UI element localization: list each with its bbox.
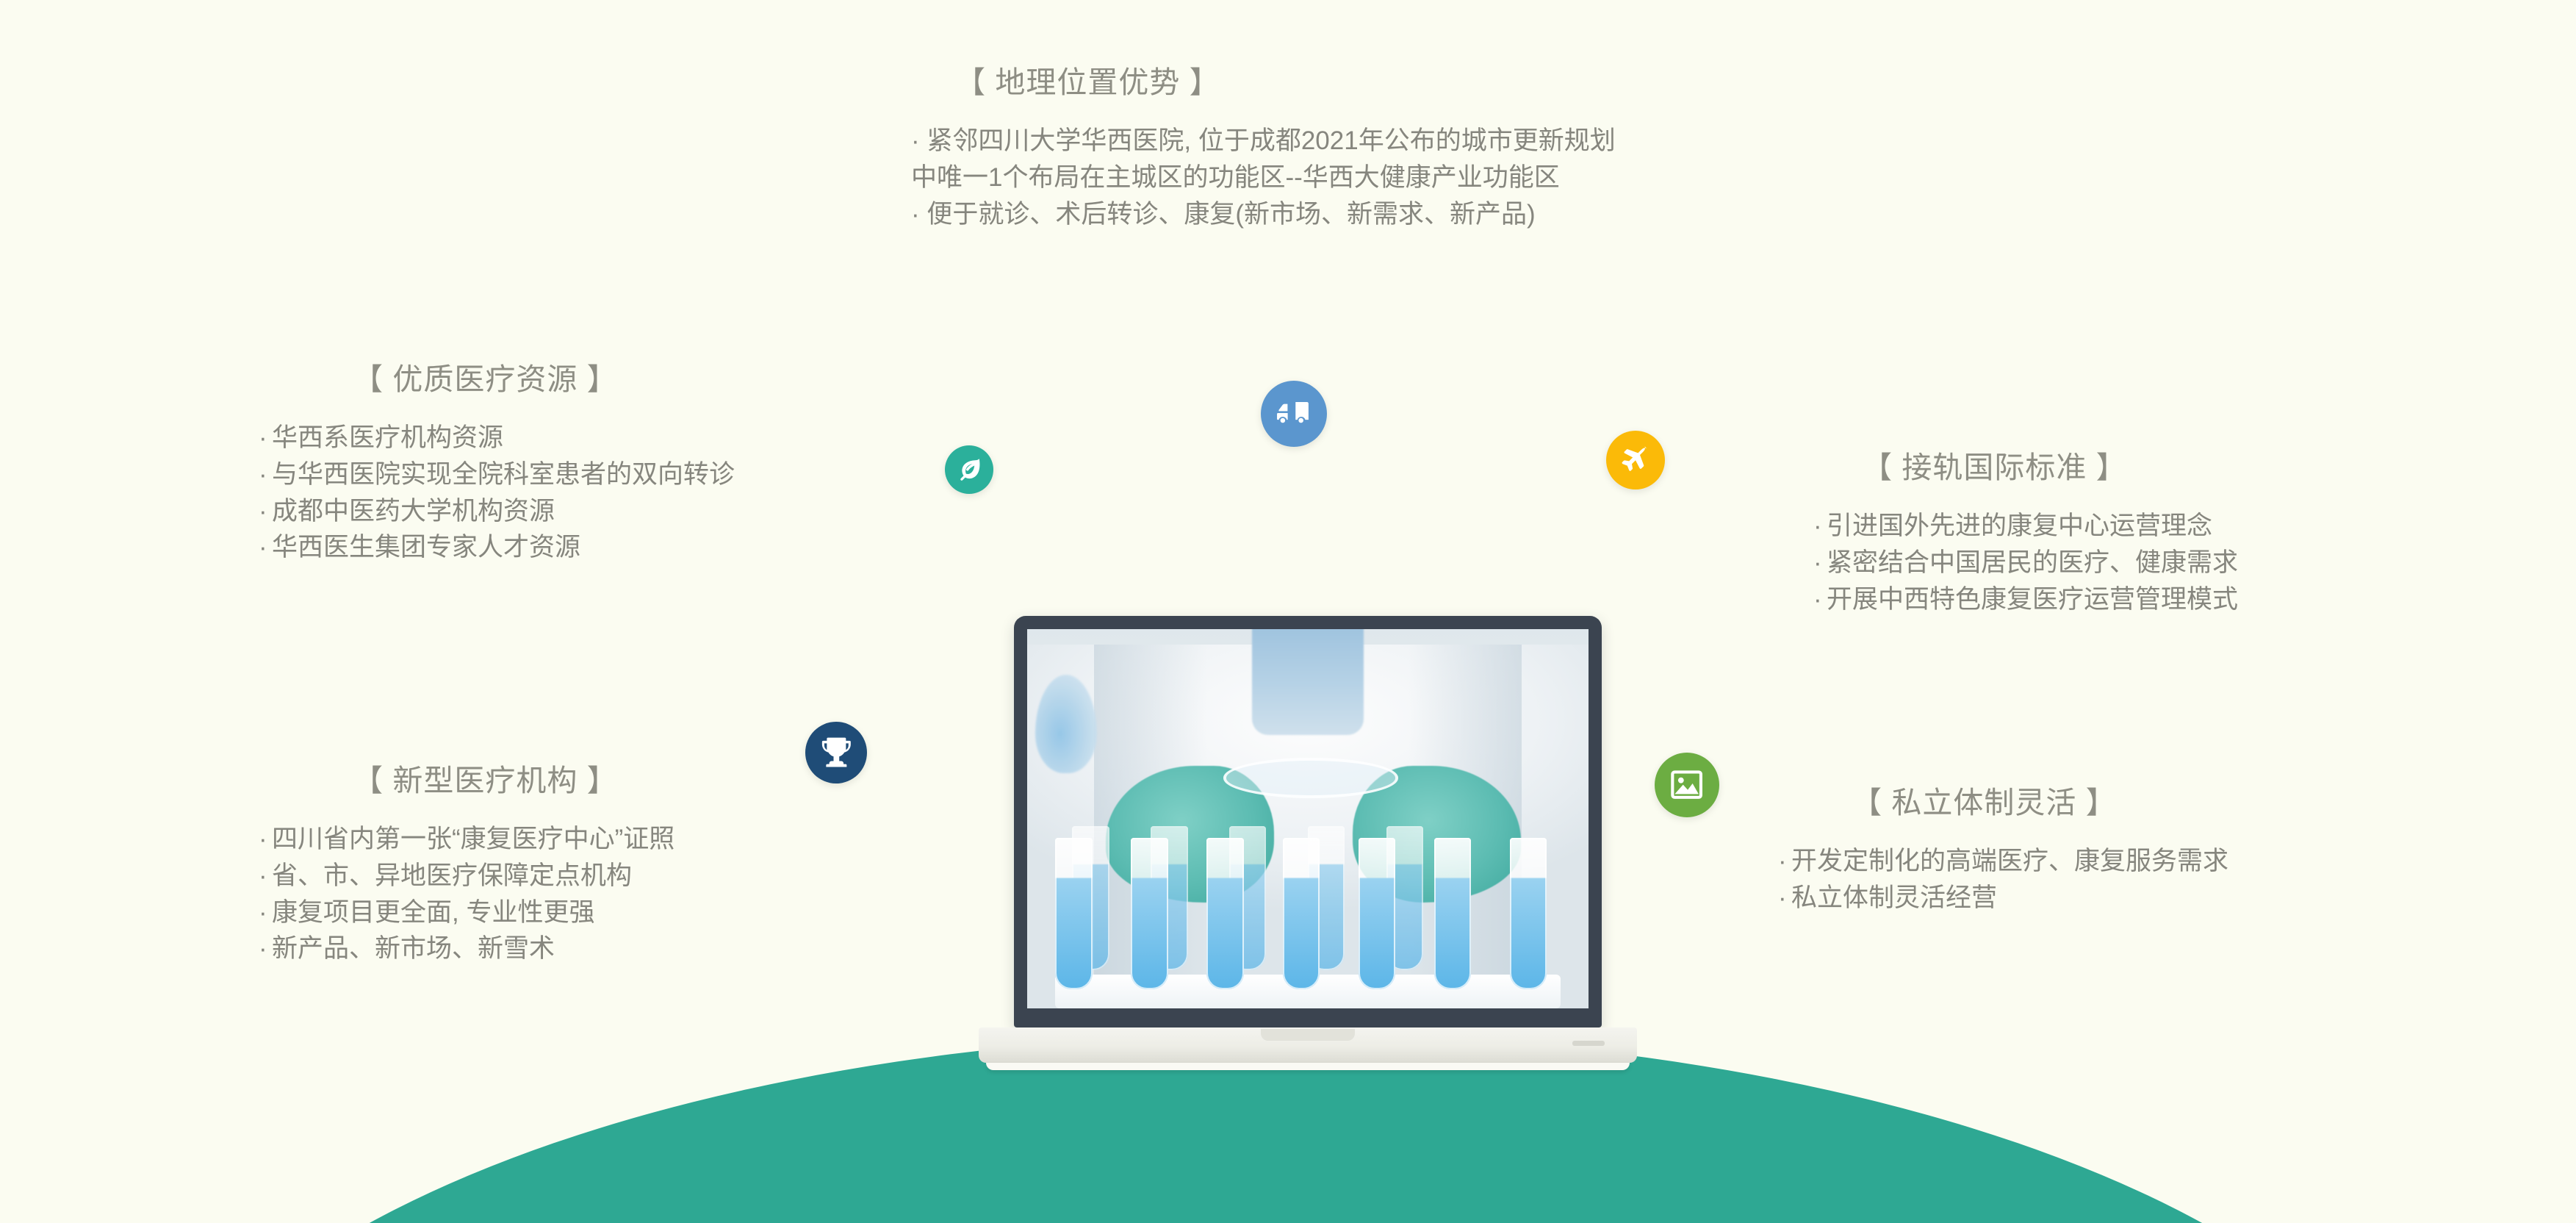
feature-block-geo: 【 地理位置优势 】 · 紧邻四川大学华西医院, 位于成都2021年公布的城市更… xyxy=(911,65,1616,232)
medical-title: 【 优质医疗资源 】 xyxy=(353,362,735,398)
test-tube xyxy=(1283,838,1320,989)
geo-line: · 紧邻四川大学华西医院, 位于成都2021年公布的城市更新规划 xyxy=(911,123,1616,159)
intl-title: 【 接轨国际标准 】 xyxy=(1862,450,2238,486)
feature-block-new-institution: 【 新型医疗机构 】 四川省内第一张“康复医疗中心”证照 省、市、异地医疗保障定… xyxy=(259,763,674,967)
truck-icon[interactable] xyxy=(1261,381,1327,447)
geo-line: · 便于就诊、术后转诊、康复(新市场、新需求、新产品) xyxy=(911,196,1616,233)
infographic-canvas: 【 地理位置优势 】 · 紧邻四川大学华西医院, 位于成都2021年公布的城市更… xyxy=(0,0,2576,1223)
list-item: 四川省内第一张“康复医疗中心”证照 xyxy=(259,821,674,858)
intl-bullets: 引进国外先进的康复中心运营理念 紧密结合中国居民的医疗、健康需求 开展中西特色康… xyxy=(1813,508,2238,617)
feature-block-international-standard: 【 接轨国际标准 】 引进国外先进的康复中心运营理念 紧密结合中国居民的医疗、健… xyxy=(1813,450,2238,617)
list-item: 新产品、新市场、新雪术 xyxy=(259,930,674,967)
feature-block-medical-resources: 【 优质医疗资源 】 华西系医疗机构资源 与华西医院实现全院科室患者的双向转诊 … xyxy=(259,362,735,566)
geo-lines: · 紧邻四川大学华西医院, 位于成都2021年公布的城市更新规划 中唯一1个布局… xyxy=(911,123,1616,232)
test-tube xyxy=(1055,838,1092,989)
laptop-base-lip xyxy=(986,1063,1630,1070)
lab-scene-image xyxy=(1027,629,1589,1008)
list-item: 紧密结合中国居民的医疗、健康需求 xyxy=(1813,545,2238,581)
list-item: 开发定制化的高端医疗、康复服务需求 xyxy=(1778,843,2228,880)
laptop-screen xyxy=(1027,629,1589,1008)
image-icon[interactable] xyxy=(1655,753,1719,817)
leaf-icon[interactable] xyxy=(945,445,993,494)
list-item: 与华西医院实现全院科室患者的双向转诊 xyxy=(259,456,735,493)
private-bullets: 开发定制化的高端医疗、康复服务需求 私立体制灵活经营 xyxy=(1778,843,2228,916)
laptop-trackpad-notch xyxy=(1261,1029,1355,1041)
petri-dish-shape xyxy=(1223,758,1397,797)
test-tube xyxy=(1434,838,1471,989)
laptop-vent xyxy=(1572,1041,1605,1046)
list-item: 开展中西特色康复医疗运营管理模式 xyxy=(1813,581,2238,618)
trophy-icon[interactable] xyxy=(805,722,867,783)
list-item: 成都中医药大学机构资源 xyxy=(259,493,735,530)
list-item: 华西医生集团专家人才资源 xyxy=(259,529,735,566)
laptop-base xyxy=(979,1027,1637,1063)
geo-title: 【 地理位置优势 】 xyxy=(955,65,1616,101)
list-item: 引进国外先进的康复中心运营理念 xyxy=(1813,508,2238,545)
list-item: 华西系医疗机构资源 xyxy=(259,420,735,456)
newinst-title: 【 新型医疗机构 】 xyxy=(353,763,674,799)
list-item: 省、市、异地医疗保障定点机构 xyxy=(259,858,674,894)
test-tube xyxy=(1206,838,1243,989)
face-mask-shape xyxy=(1252,629,1364,735)
laptop-illustration xyxy=(1014,616,1602,1063)
test-tube xyxy=(1359,838,1395,989)
private-title: 【 私立体制灵活 】 xyxy=(1852,785,2228,821)
newinst-bullets: 四川省内第一张“康复医疗中心”证照 省、市、异地医疗保障定点机构 康复项目更全面… xyxy=(259,821,674,967)
plane-icon[interactable] xyxy=(1606,431,1665,489)
laptop-lid xyxy=(1014,616,1602,1027)
geo-line: 中唯一1个布局在主城区的功能区--华西大健康产业功能区 xyxy=(911,159,1616,196)
medical-bullets: 华西系医疗机构资源 与华西医院实现全院科室患者的双向转诊 成都中医药大学机构资源… xyxy=(259,420,735,566)
list-item: 康复项目更全面, 专业性更强 xyxy=(259,894,674,931)
list-item: 私立体制灵活经营 xyxy=(1778,880,2228,917)
test-tube xyxy=(1131,838,1168,989)
test-tube xyxy=(1510,838,1547,989)
feature-block-private-system: 【 私立体制灵活 】 开发定制化的高端医疗、康复服务需求 私立体制灵活经营 xyxy=(1778,785,2228,917)
